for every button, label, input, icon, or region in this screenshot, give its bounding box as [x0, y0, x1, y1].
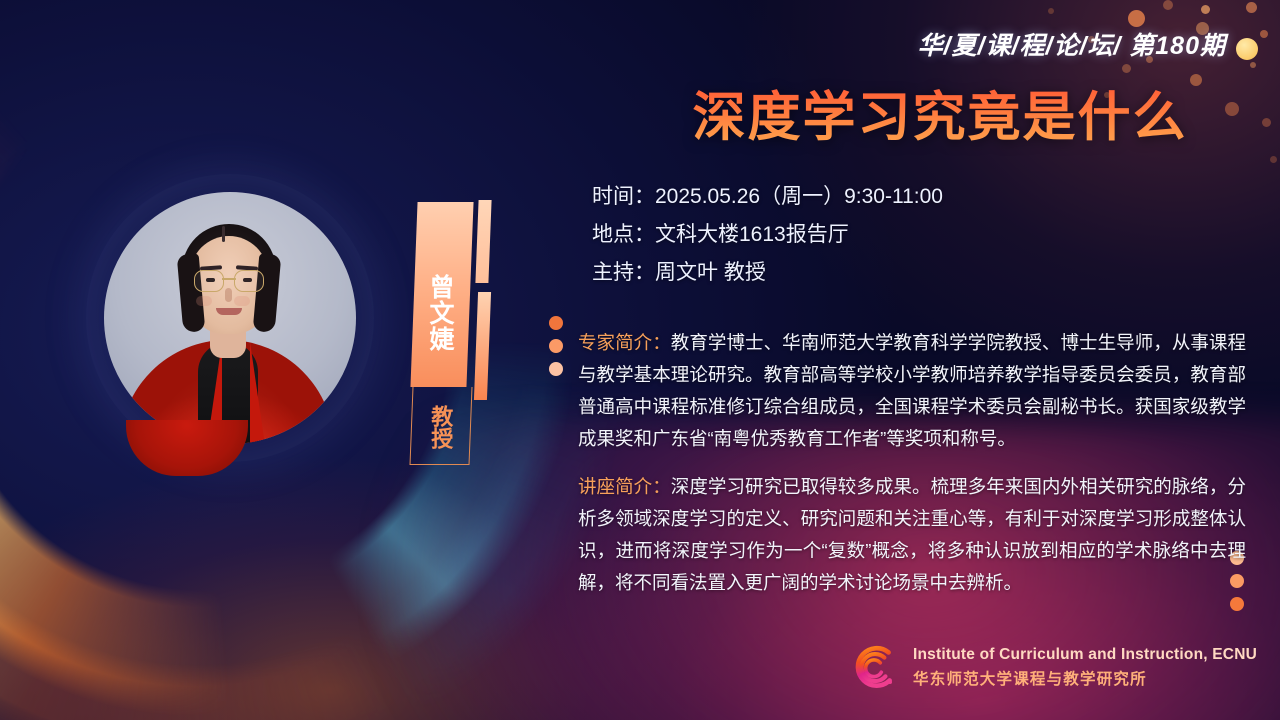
bokeh-dot [1048, 8, 1054, 14]
bokeh-dot [1246, 2, 1257, 13]
footer-branding: Institute of Curriculum and Instruction,… [848, 641, 1257, 693]
speaker-bio: 专家简介：教育学博士、华南师范大学教育科学学院教授、博士生导师，从事课程与教学基… [578, 327, 1246, 455]
bokeh-dot [1260, 30, 1268, 38]
portrait-mouth [216, 308, 242, 315]
dot-icon [1230, 597, 1244, 611]
glasses-lens-left [194, 270, 224, 292]
bokeh-dot [1122, 64, 1131, 73]
lecture-abstract: 讲座简介：深度学习研究已取得较多成果。梳理多年来国内外相关研究的脉络，分析多领域… [578, 471, 1246, 599]
info-line-time: 时间：2025.05.26（周一）9:30-11:00 [592, 186, 1252, 207]
bokeh-dot [1190, 74, 1202, 86]
dot-icon [549, 316, 563, 330]
portrait-lapel-right [250, 342, 288, 444]
lecture-poster: 曾文婕 教授 华/夏/课/程/论/坛/ 第180期 深度学习究竟是什么 时间：2… [0, 0, 1280, 720]
portrait-circle [104, 192, 356, 444]
info-line-host: 主持：周文叶 教授 [592, 262, 1252, 283]
accent-bar-bottom-segment [474, 292, 491, 400]
info-line-venue: 地点：文科大楼1613报告厅 [592, 224, 1252, 245]
speaker-title: 教授 [411, 398, 469, 456]
portrait-figure [104, 192, 356, 444]
institute-logo-icon [848, 641, 900, 693]
nameplate-accent-bar [477, 200, 491, 400]
bokeh-dot [1128, 10, 1145, 27]
speaker-nameplate: 曾文婕 教授 [410, 202, 470, 464]
dot-icon [549, 362, 563, 376]
bokeh-dot [1250, 62, 1256, 68]
portrait-cheek-left [196, 296, 212, 306]
speaker-portrait [104, 192, 356, 468]
bokeh-dot [1262, 118, 1271, 127]
accent-bar-top-segment [475, 200, 491, 283]
portrait-hair-part [222, 226, 225, 242]
kicker-dot-icon [1236, 38, 1258, 60]
speaker-bio-text: 教育学博士、华南师范大学教育科学学院教授、博士生导师，从事课程与教学基本理论研究… [578, 332, 1246, 449]
portrait-nose [225, 288, 232, 302]
event-info: 时间：2025.05.26（周一）9:30-11:00 地点：文科大楼1613报… [592, 186, 1252, 300]
lecture-abstract-label: 讲座简介： [578, 476, 671, 497]
footer-institute-cn: 华东师范大学课程与教学研究所 [913, 667, 1257, 689]
bokeh-dot [1201, 5, 1210, 14]
speaker-name: 曾文婕 [412, 258, 468, 368]
bokeh-dot [1163, 0, 1173, 10]
page-title: 深度学习究竟是什么 [640, 88, 1240, 147]
portrait-cheek-right [234, 296, 250, 306]
dot-icon [549, 339, 563, 353]
glasses-lens-right [234, 270, 264, 292]
speaker-bio-label: 专家简介： [578, 332, 671, 353]
portrait-image [104, 192, 356, 444]
series-kicker: 华/夏/课/程/论/坛/ 第180期 [840, 26, 1226, 62]
bokeh-dot [1270, 156, 1277, 163]
portrait-body-overflow [126, 420, 248, 476]
decoration-dots-left [549, 316, 563, 376]
footer-institute-en: Institute of Curriculum and Instruction,… [913, 646, 1257, 664]
footer-text: Institute of Curriculum and Instruction,… [913, 646, 1257, 689]
lecture-abstract-text: 深度学习研究已取得较多成果。梳理多年来国内外相关研究的脉络，分析多领域深度学习的… [578, 476, 1246, 593]
